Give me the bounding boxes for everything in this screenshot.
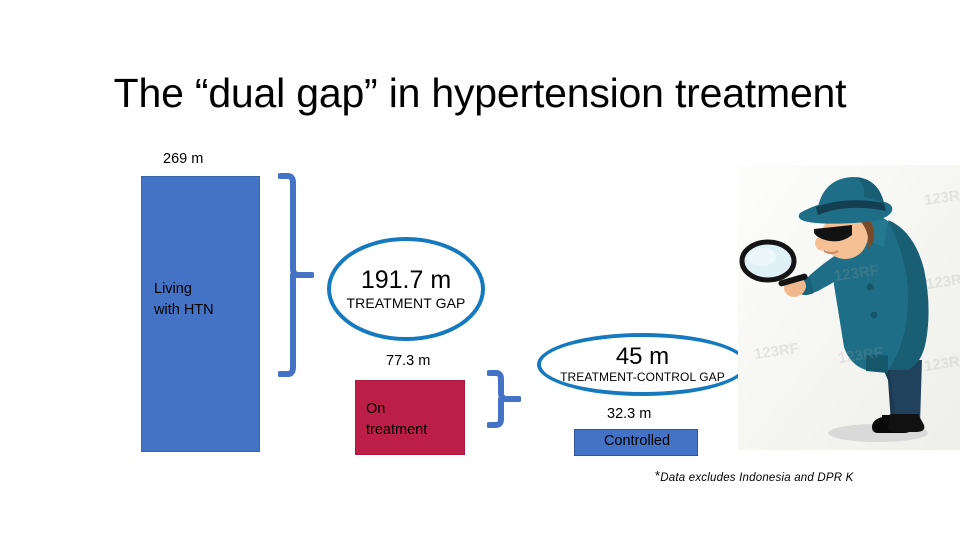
brace-treatment-control-gap — [487, 369, 521, 429]
bar-living-with-htn: Living with HTN — [141, 176, 260, 452]
callout-treatment-gap-label: TREATMENT GAP — [346, 295, 465, 312]
bar-controlled-label: Controlled — [575, 433, 699, 449]
bar-living-with-htn-label: Living with HTN — [154, 279, 214, 321]
slide-canvas: The “dual gap” in hypertension treatment… — [0, 0, 960, 540]
detective-with-magnifying-glass-icon — [738, 165, 960, 450]
footnote: *Data excludes Indonesia and DPR K — [655, 468, 854, 484]
bar-on-treatment: On treatment — [355, 380, 465, 455]
callout-treatment-gap: 191.7 m TREATMENT GAP — [327, 237, 485, 341]
callout-treatment-gap-value: 191.7 m — [361, 266, 451, 294]
bar-on-treatment-label: On treatment — [366, 399, 427, 441]
value-label-269: 269 m — [163, 151, 203, 167]
page-title: The “dual gap” in hypertension treatment — [60, 70, 900, 117]
value-label-77-3: 77.3 m — [386, 353, 430, 369]
callout-treatment-control-gap-value: 45 m — [616, 344, 669, 370]
detective-image: 123RF 123RF 123RF 123RF 123RF 123RF — [738, 165, 960, 450]
value-label-32-3: 32.3 m — [607, 406, 651, 422]
brace-treatment-gap — [278, 172, 314, 378]
bar-controlled: Controlled — [574, 429, 698, 456]
footnote-text: Data excludes Indonesia and DPR K — [660, 472, 853, 484]
callout-treatment-control-gap-label: TREATMENT-CONTROL GAP — [560, 370, 725, 385]
callout-treatment-control-gap: 45 m TREATMENT-CONTROL GAP — [537, 333, 748, 396]
